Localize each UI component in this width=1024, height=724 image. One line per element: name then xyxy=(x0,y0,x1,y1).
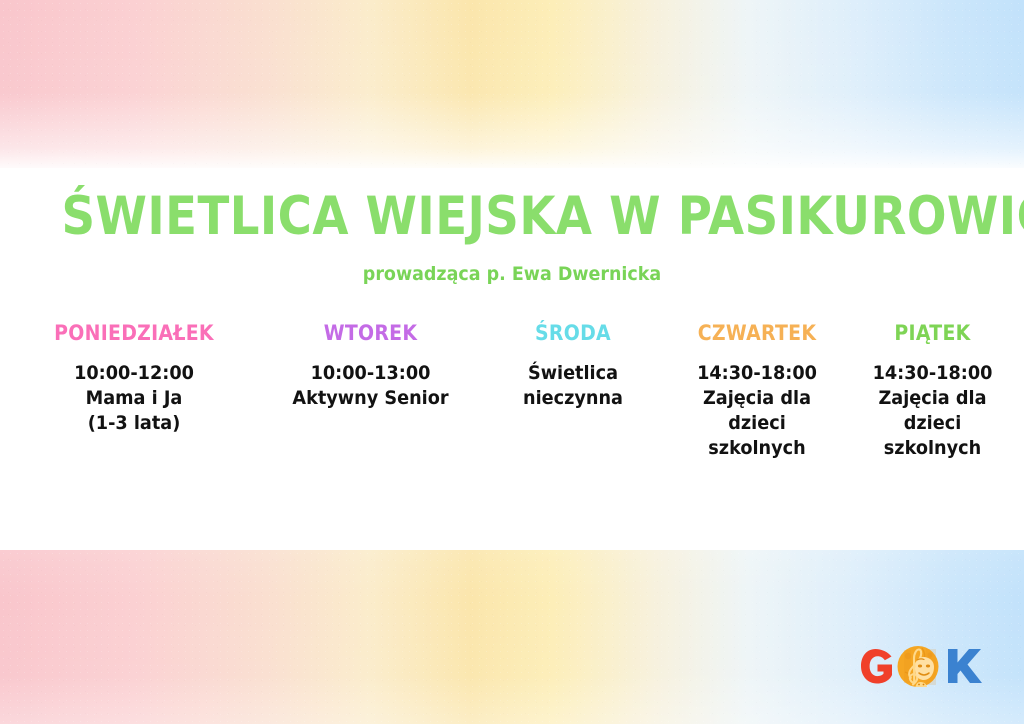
detail-line: 14:30-18:00 xyxy=(684,361,829,386)
detail-line: szkolnych xyxy=(853,436,1012,461)
day-name-tuesday: WTOREK xyxy=(284,323,458,344)
gok-logo xyxy=(860,644,994,702)
detail-line: 14:30-18:00 xyxy=(853,361,1012,386)
logo-emblem-icon xyxy=(898,646,939,687)
day-column-wednesday: ŚRODA Świetlica nieczynna xyxy=(473,323,673,411)
day-name-wednesday: ŚRODA xyxy=(488,323,657,344)
logo-letter-g-icon xyxy=(861,649,892,684)
top-gradient-band xyxy=(0,0,1024,168)
logo-letter-k-icon xyxy=(948,649,982,683)
day-name-monday: PONIEDZIAŁEK xyxy=(19,323,249,344)
day-column-monday: PONIEDZIAŁEK 10:00-12:00 Mama i Ja (1-3 … xyxy=(0,323,268,436)
day-name-thursday: CZWARTEK xyxy=(687,323,827,344)
day-details-tuesday: 10:00-13:00 Aktywny Senior xyxy=(281,361,460,411)
page-title: ŚWIETLICA WIEJSKA W PASIKUROWICACH xyxy=(61,190,962,243)
poster-root: ŚWIETLICA WIEJSKA W PASIKUROWICACH prowa… xyxy=(0,0,1024,724)
detail-line: Mama i Ja xyxy=(15,386,253,411)
detail-line: 10:00-12:00 xyxy=(15,361,253,386)
day-name-friday: PIĄTEK xyxy=(856,323,1010,344)
day-column-friday: PIĄTEK 14:30-18:00 Zajęcia dla dzieci sz… xyxy=(841,323,1024,461)
page-subtitle: prowadząca p. Ewa Dwernicka xyxy=(41,265,983,284)
detail-line: Aktywny Senior xyxy=(281,386,460,411)
detail-line: 10:00-13:00 xyxy=(281,361,460,386)
day-column-tuesday: WTOREK 10:00-13:00 Aktywny Senior xyxy=(268,323,473,411)
weekly-schedule: PONIEDZIAŁEK 10:00-12:00 Mama i Ja (1-3 … xyxy=(0,323,1024,461)
content-panel: ŚWIETLICA WIEJSKA W PASIKUROWICACH prowa… xyxy=(0,168,1024,550)
day-details-wednesday: Świetlica nieczynna xyxy=(486,361,661,411)
detail-line: Świetlica xyxy=(486,361,661,386)
detail-line: szkolnych xyxy=(684,436,829,461)
detail-line: Zajęcia dla xyxy=(853,386,1012,411)
detail-line: (1-3 lata) xyxy=(15,411,253,436)
day-details-friday: 14:30-18:00 Zajęcia dla dzieci szkolnych xyxy=(853,361,1012,461)
detail-line: dzieci xyxy=(684,411,829,436)
day-details-thursday: 14:30-18:00 Zajęcia dla dzieci szkolnych xyxy=(684,361,829,461)
detail-line: nieczynna xyxy=(486,386,661,411)
day-column-thursday: CZWARTEK 14:30-18:00 Zajęcia dla dzieci … xyxy=(673,323,841,461)
detail-line: Zajęcia dla xyxy=(684,386,829,411)
day-details-monday: 10:00-12:00 Mama i Ja (1-3 lata) xyxy=(15,361,253,436)
detail-line: dzieci xyxy=(853,411,1012,436)
